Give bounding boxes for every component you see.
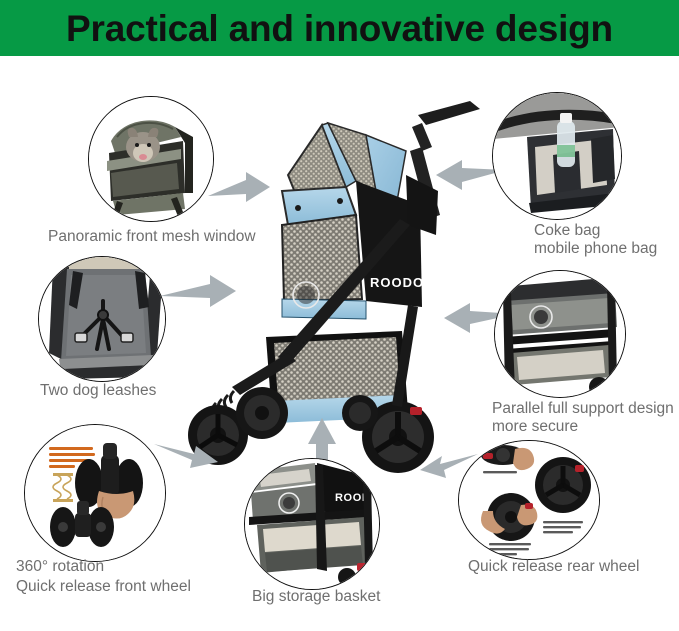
inset-two-dog-leashes (38, 256, 166, 382)
inset-photo-front-wheel-assembly (25, 425, 165, 561)
caption-coke-bag-line1: Coke bag (534, 222, 600, 240)
infographic-root: Practical and innovative design (0, 0, 679, 631)
arrow-two-dog-leashes (158, 272, 238, 312)
brand-text-inset: ROODO (335, 492, 379, 504)
inset-rotation-quick-release-front-wheel (24, 424, 166, 562)
page-title: Practical and innovative design (66, 10, 613, 47)
header-banner: Practical and innovative design (0, 0, 679, 56)
caption-quick-release-rear-wheel: Quick release rear wheel (468, 558, 639, 576)
inset-photo-dog-in-stroller (89, 97, 213, 221)
caption-parallel-support-line1: Parallel full support design (492, 400, 674, 418)
inset-photo-storage-basket: ROODO (245, 459, 379, 589)
caption-two-dog-leashes: Two dog leashes (40, 382, 156, 400)
caption-front-wheel-line2: Quick release front wheel (16, 578, 191, 596)
inset-big-storage-basket: ROODO (244, 458, 380, 590)
caption-parallel-support-line2: more secure (492, 418, 578, 436)
inset-coke-bag (492, 92, 622, 220)
micro-caption-top (483, 471, 517, 473)
arrow-panoramic-window (206, 170, 272, 212)
caption-front-wheel-line1: 360° rotation (16, 558, 104, 576)
caption-big-storage-basket: Big storage basket (252, 588, 380, 606)
inset-panoramic-front-mesh-window (88, 96, 214, 222)
inset-parallel-full-support-design (494, 270, 626, 398)
inset-photo-bottle-holder (493, 93, 621, 219)
caption-coke-bag-line2: mobile phone bag (534, 240, 657, 258)
caption-panoramic-front-mesh-window: Panoramic front mesh window (48, 228, 288, 246)
inset-quick-release-rear-wheel (458, 440, 600, 560)
inset-photo-interior-leashes (39, 257, 165, 381)
brand-text-cabin: ROODO (370, 275, 424, 290)
inset-photo-rear-wheel-release (459, 441, 599, 559)
inset-photo-parallel-support (495, 271, 625, 397)
